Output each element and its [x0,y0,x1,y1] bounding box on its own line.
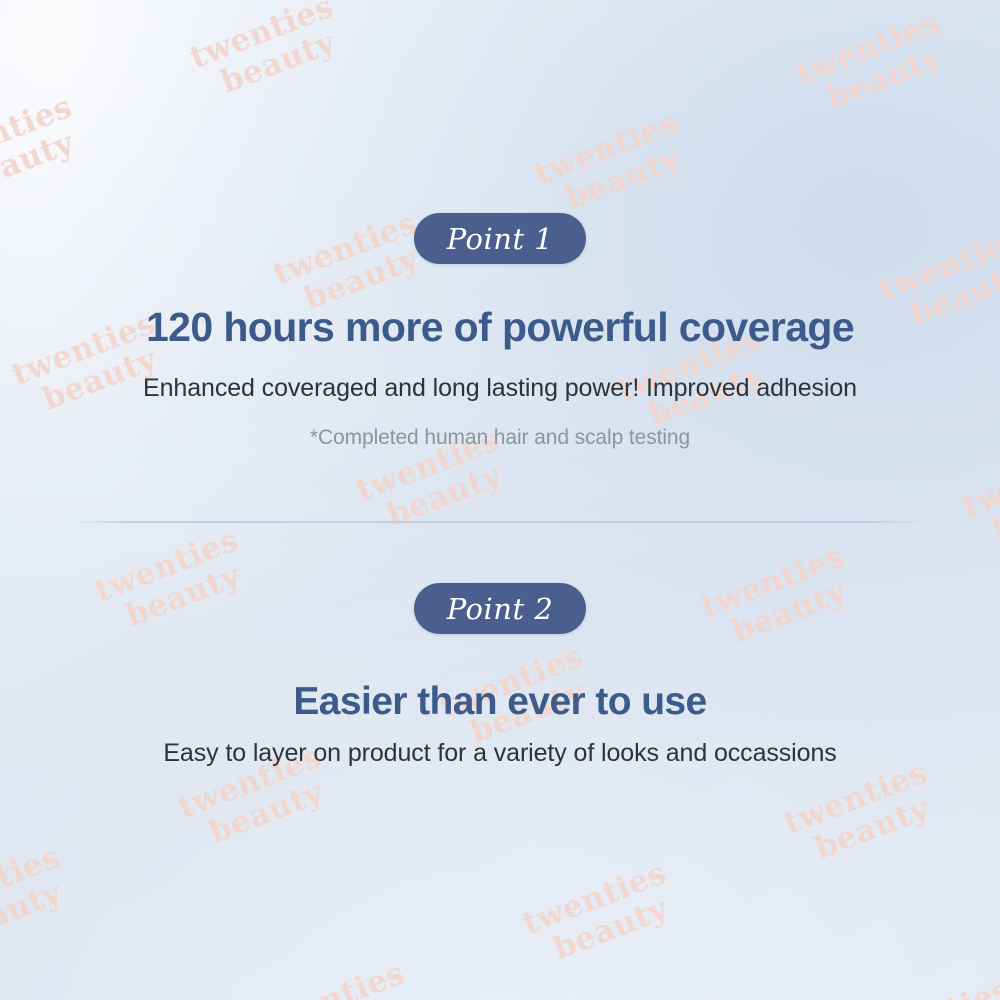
point-2-headline: Easier than ever to use [0,680,1000,724]
promo-content: Point 1 120 hours more of powerful cover… [0,0,1000,1000]
point-2-badge: Point 2 [414,583,586,634]
point-1-headline: 120 hours more of powerful coverage [0,304,1000,351]
promo-page: twentiesbeautytwentiesbeautytwentiesbeau… [0,0,1000,1000]
point-1-badge-label: Point 1 [447,222,554,256]
point-1-badge: Point 1 [414,213,586,264]
point-1-subtitle: Enhanced coveraged and long lasting powe… [0,374,1000,403]
section-divider [80,521,920,523]
point-1-footnote: *Completed human hair and scalp testing [0,426,1000,450]
point-2-badge-label: Point 2 [447,592,554,626]
point-2-subtitle: Easy to layer on product for a variety o… [0,739,1000,768]
